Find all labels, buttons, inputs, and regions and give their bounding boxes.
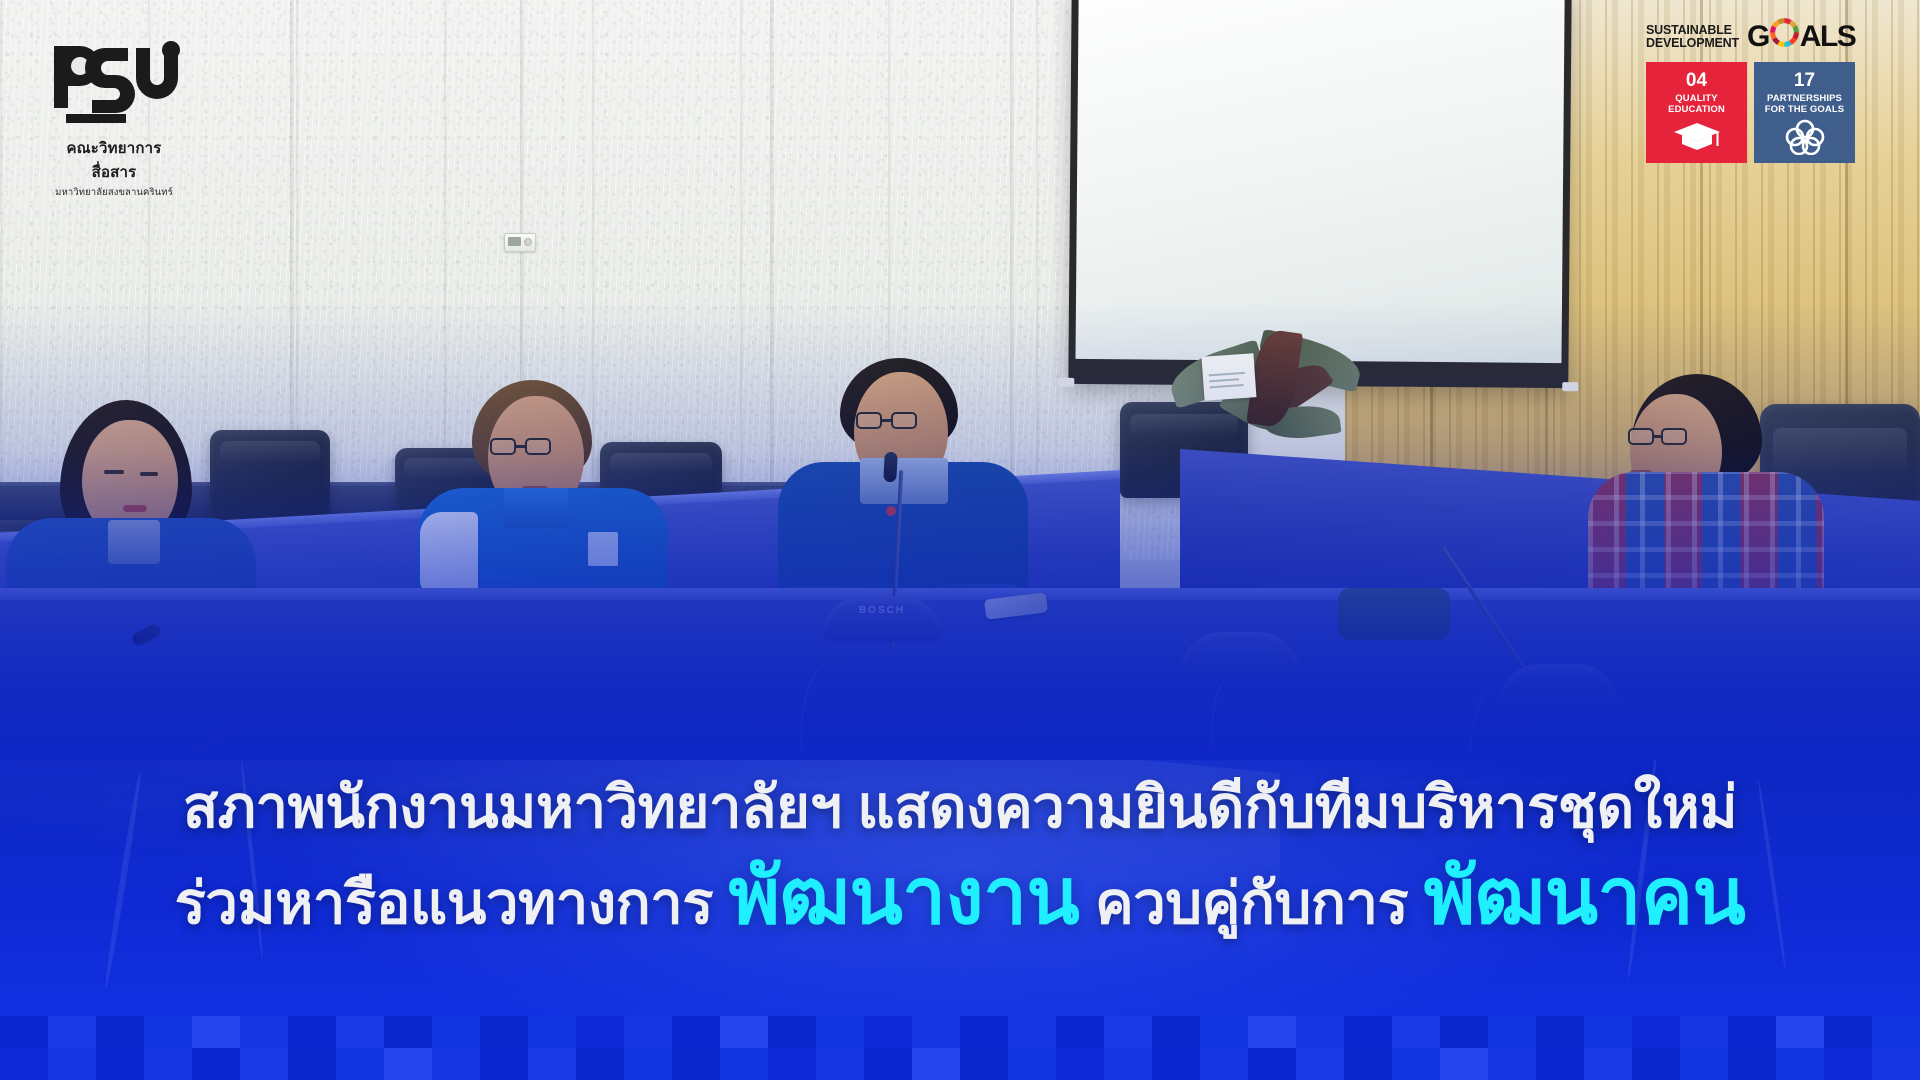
mosaic-tile: [144, 1016, 192, 1048]
headline-highlight-1: พัฒนางาน: [729, 852, 1080, 940]
mosaic-tile: [576, 1048, 624, 1080]
mosaic-tile: [720, 1048, 768, 1080]
lapel-pin: [886, 506, 896, 516]
sdg-header: SUSTAINABLE DEVELOPMENT G: [1646, 18, 1876, 55]
mic-base: [1498, 664, 1618, 710]
mosaic-tile: [0, 1048, 48, 1080]
card-text-line: [1210, 384, 1244, 388]
mosaic-tile: [1248, 1016, 1296, 1048]
mosaic-tile: [816, 1048, 864, 1080]
mosaic-tile: [576, 1016, 624, 1048]
seat-cushion: [1338, 588, 1450, 640]
mosaic-tile: [672, 1048, 720, 1080]
interlocking-circles-icon: [1754, 117, 1855, 155]
sdg-tile-label: QUALITY EDUCATION: [1646, 94, 1747, 116]
eye-right: [140, 472, 158, 476]
headline-line2-part2: ควบคู่กับการ: [1095, 871, 1408, 936]
screen-foot-right: [1562, 382, 1578, 391]
mosaic-tile: [192, 1016, 240, 1048]
mosaic-tile: [1056, 1048, 1104, 1080]
mosaic-tile: [336, 1016, 384, 1048]
mosaic-tile: [48, 1016, 96, 1048]
mosaic-tile: [384, 1048, 432, 1080]
mosaic-tile: [1584, 1048, 1632, 1080]
projection-screen-surface: [1075, 0, 1564, 363]
card-text-line: [1209, 372, 1245, 377]
mosaic-tile: [1488, 1048, 1536, 1080]
mosaic-tile: [960, 1016, 1008, 1048]
mosaic-tile: [1440, 1016, 1488, 1048]
card-text-line: [1209, 378, 1239, 382]
chair-back-1: [210, 430, 330, 522]
mosaic-tile: [912, 1016, 960, 1048]
headline-banner: สภาพนักงานมหาวิทยาลัยฯ แสดงความยินดีกับท…: [0, 760, 1920, 1080]
sdg-tile-number: 17: [1754, 71, 1855, 90]
mosaic-tile: [1632, 1016, 1680, 1048]
wall-seam: [290, 0, 294, 500]
sdg-wordmark-line1: SUSTAINABLE: [1646, 24, 1739, 37]
sdg-tiles: 04 QUALITY EDUCATION 17 PARTNERSHIPS FOR…: [1646, 62, 1876, 163]
mosaic-tile: [1008, 1016, 1056, 1048]
polo-shoulder-stripe: [420, 512, 478, 598]
sdg-color-wheel-icon: [1770, 18, 1799, 55]
mic-capsule: [883, 452, 898, 483]
sdg-tile-label-line2: FOR THE GOALS: [1759, 105, 1850, 116]
mosaic-tile: [240, 1016, 288, 1048]
sdg-wordmark: SUSTAINABLE DEVELOPMENT: [1646, 24, 1739, 50]
sdg-wordmark-line2: DEVELOPMENT: [1646, 37, 1739, 50]
collar: [504, 488, 568, 528]
mosaic-tile: [1872, 1048, 1920, 1080]
mosaic-tile: [1536, 1016, 1584, 1048]
mosaic-tile: [288, 1016, 336, 1048]
mosaic-tile: [1008, 1048, 1056, 1080]
sdg-tile-label: PARTNERSHIPS FOR THE GOALS: [1754, 94, 1855, 116]
mosaic-tile: [1056, 1016, 1104, 1048]
mosaic-tile: [1872, 1016, 1920, 1048]
mosaic-tile: [960, 1048, 1008, 1080]
mosaic-tile: [768, 1016, 816, 1048]
mic-base: BOSCH: [822, 596, 942, 642]
mosaic-tile: [1344, 1048, 1392, 1080]
mosaic-tile: [1536, 1048, 1584, 1080]
headline-highlight-2: พัฒนาคน: [1424, 852, 1746, 940]
mosaic-tile: [48, 1048, 96, 1080]
mosaic-tile: [1344, 1016, 1392, 1048]
mosaic-tile: [528, 1016, 576, 1048]
headline-line-2: ร่วมหารือแนวทางการ พัฒนางาน ควบคู่กับการ…: [0, 854, 1920, 940]
mosaic-tile: [432, 1048, 480, 1080]
mosaic-tile: [1248, 1048, 1296, 1080]
mouth: [123, 505, 147, 512]
sdg-goals-word: G: [1747, 18, 1855, 55]
sdg-badge: SUSTAINABLE DEVELOPMENT G: [1646, 18, 1876, 163]
mosaic-tile: [912, 1048, 960, 1080]
mosaic-tile: [1728, 1016, 1776, 1048]
mosaic-tile: [336, 1048, 384, 1080]
mosaic-tile: [480, 1048, 528, 1080]
mosaic-tile: [1440, 1048, 1488, 1080]
mosaic-tile: [96, 1016, 144, 1048]
projection-screen: [1068, 0, 1571, 388]
sdg-tile-17: 17 PARTNERSHIPS FOR THE GOALS: [1754, 62, 1855, 163]
mosaic-tile: [384, 1016, 432, 1048]
faculty-name-th: คณะวิทยาการสื่อสาร: [48, 136, 180, 184]
mosaic-tile: [1104, 1048, 1152, 1080]
sdg-goals-pre: G: [1747, 20, 1769, 54]
mosaic-tile: [816, 1016, 864, 1048]
mosaic-tile: [864, 1048, 912, 1080]
mosaic-tile: [1584, 1016, 1632, 1048]
mosaic-tile: [1296, 1048, 1344, 1080]
mosaic-tile: [1680, 1016, 1728, 1048]
mosaic-tile: [624, 1048, 672, 1080]
wall-seam: [1010, 0, 1014, 500]
headline-line2-part1: ร่วมหารือแนวทางการ: [175, 871, 713, 936]
mosaic-tile: [1104, 1016, 1152, 1048]
psu-monogram-logo: [48, 34, 180, 130]
mosaic-tile: [240, 1048, 288, 1080]
collar: [860, 458, 948, 504]
mosaic-tile: [1392, 1016, 1440, 1048]
university-name-th: มหาวิทยาลัยสงขลานครินทร์: [48, 185, 180, 200]
plant-info-card: [1202, 353, 1257, 401]
sdg-tile-number: 04: [1646, 71, 1747, 90]
mosaic-tile: [1392, 1048, 1440, 1080]
graduation-cap-icon: [1646, 121, 1747, 155]
mosaic-tile: [1824, 1048, 1872, 1080]
psu-brand-block: คณะวิทยาการสื่อสาร มหาวิทยาลัยสงขลานคริน…: [48, 34, 238, 200]
mosaic-tile: [0, 1016, 48, 1048]
mosaic-tile: [672, 1016, 720, 1048]
sdg-tile-04: 04 QUALITY EDUCATION: [1646, 62, 1747, 163]
mosaic-tile: [288, 1048, 336, 1080]
mosaic-strip: [0, 1016, 1920, 1080]
thermostat-display: [508, 237, 521, 246]
collar: [108, 520, 160, 564]
eye-left: [104, 470, 124, 474]
mosaic-tile: [864, 1016, 912, 1048]
mosaic-tile: [1200, 1048, 1248, 1080]
mosaic-tile: [144, 1048, 192, 1080]
mosaic-tile: [720, 1016, 768, 1048]
wall-thermostat-panel: [504, 233, 536, 252]
mosaic-tile: [1152, 1016, 1200, 1048]
mosaic-tile: [1728, 1048, 1776, 1080]
thermostat-knob: [524, 238, 532, 246]
mosaic-tile: [1632, 1048, 1680, 1080]
mic-base-far: [1180, 632, 1300, 678]
mosaic-tile: [432, 1016, 480, 1048]
polo-logo: [588, 532, 618, 566]
mosaic-tile: [1776, 1048, 1824, 1080]
headline-block: สภาพนักงานมหาวิทยาลัยฯ แสดงความยินดีกับท…: [0, 776, 1920, 940]
mosaic-tile: [624, 1016, 672, 1048]
mosaic-tile: [1152, 1048, 1200, 1080]
wall-seam: [770, 0, 774, 500]
screen-foot-left: [1058, 378, 1074, 387]
mosaic-tile: [96, 1048, 144, 1080]
mosaic-tile: [1824, 1016, 1872, 1048]
mosaic-tile: [192, 1048, 240, 1080]
mosaic-tile: [1776, 1016, 1824, 1048]
mic-brand-label: BOSCH: [822, 605, 942, 616]
mosaic-tile: [1200, 1016, 1248, 1048]
mosaic-tile: [1296, 1016, 1344, 1048]
mosaic-tile: [768, 1048, 816, 1080]
screenshot-root: BOSCH สภาพนักงานมหาวิทยาลัยฯ แสดงควา: [0, 0, 1920, 1080]
mosaic-tile: [528, 1048, 576, 1080]
mosaic-tile: [480, 1016, 528, 1048]
headline-line-1: สภาพนักงานมหาวิทยาลัยฯ แสดงความยินดีกับท…: [0, 776, 1920, 840]
sdg-goals-post: ALS: [1800, 20, 1856, 54]
mosaic-tile: [1488, 1016, 1536, 1048]
mosaic-tile: [1680, 1048, 1728, 1080]
